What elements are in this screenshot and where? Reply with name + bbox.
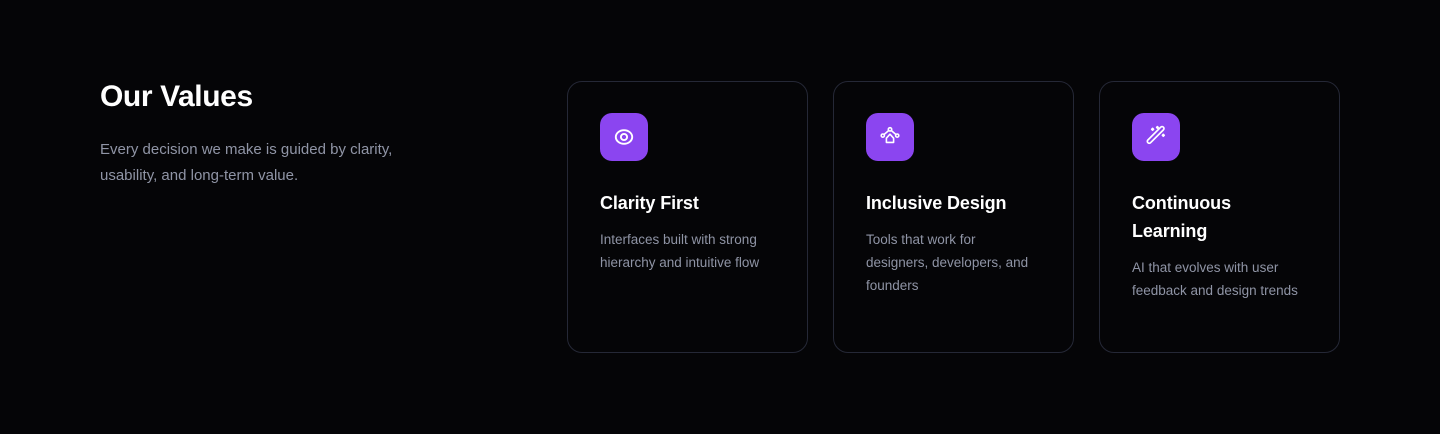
pen-node-icon xyxy=(866,113,914,161)
value-card-description: Interfaces built with strong hierarchy a… xyxy=(600,228,772,274)
value-card-clarity-first[interactable]: Clarity First Interfaces built with stro… xyxy=(567,81,808,353)
value-card-description: Tools that work for designers, developer… xyxy=(866,228,1038,297)
value-card-description: AI that evolves with user feedback and d… xyxy=(1132,256,1304,302)
value-card-title: Inclusive Design xyxy=(866,189,1036,217)
value-card-continuous-learning[interactable]: Continuous Learning AI that evolves with… xyxy=(1099,81,1340,353)
intro-block: Our Values Every decision we make is gui… xyxy=(100,80,500,189)
value-card-inclusive-design[interactable]: Inclusive Design Tools that work for des… xyxy=(833,81,1074,353)
our-values-section: Our Values Every decision we make is gui… xyxy=(0,0,1440,434)
eye-target-icon xyxy=(600,113,648,161)
value-card-title: Continuous Learning xyxy=(1132,189,1302,245)
page-title: Our Values xyxy=(100,80,500,115)
magic-wand-icon xyxy=(1132,113,1180,161)
value-card-title: Clarity First xyxy=(600,189,770,217)
values-card-list: Clarity First Interfaces built with stro… xyxy=(567,81,1340,353)
intro-subtitle: Every decision we make is guided by clar… xyxy=(100,137,445,189)
